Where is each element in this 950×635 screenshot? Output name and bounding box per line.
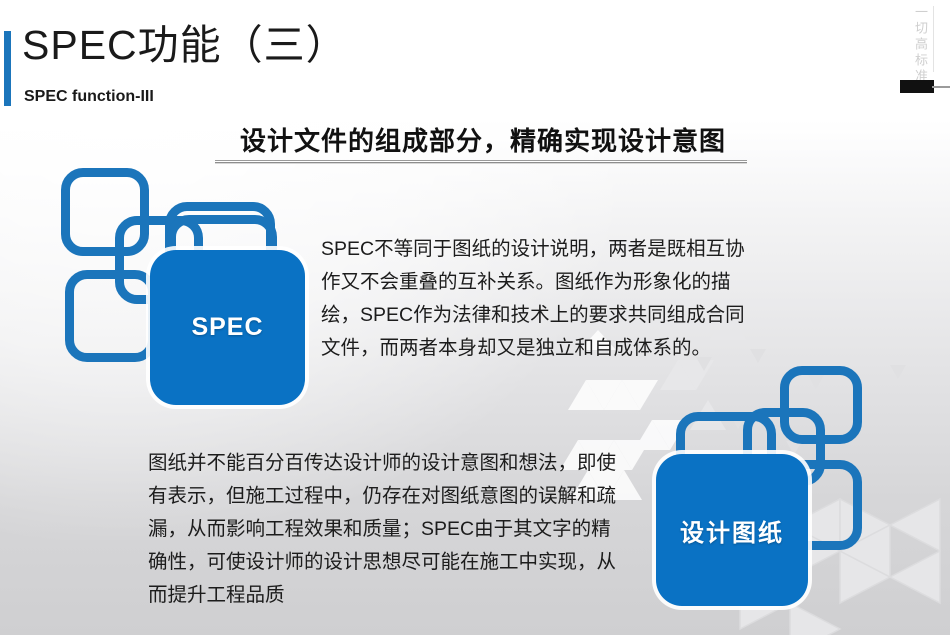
spec-label-box: SPEC — [150, 250, 305, 405]
spec-chain-graphic: SPEC — [55, 160, 305, 435]
black-block-line — [932, 86, 950, 88]
section-headline: 设计文件的组成部分，精确实现设计意图 — [240, 121, 726, 158]
page-title: SPEC功能（三） — [22, 24, 348, 67]
body-paragraph-2: 图纸并不能百分百传达设计师的设计意图和想法，即使有表示，但施工过程中，仍存在对图… — [148, 447, 628, 612]
drawing-label-text: 设计图纸 — [680, 513, 784, 548]
body-paragraph-1: SPEC不等同于图纸的设计说明，两者是既相互协作又不会重叠的互补关系。图纸作为形… — [321, 233, 751, 365]
drawing-label-box: 设计图纸 — [656, 454, 808, 606]
title-accent-bar — [4, 31, 11, 106]
drawing-chain-graphic: 设计图纸 — [638, 360, 908, 635]
slide-header: SPEC功能（三） SPEC function-III 一切高标准 — [0, 0, 950, 120]
black-block-mark — [900, 80, 934, 93]
spec-label-text: SPEC — [191, 313, 263, 342]
slide-canvas: SPEC功能（三） SPEC function-III 一切高标准 设计文件的组… — [0, 0, 950, 635]
watermark-text: 一切高标准 — [912, 5, 927, 85]
page-subtitle: SPEC function-III — [24, 88, 154, 106]
watermark-rule — [933, 6, 934, 72]
